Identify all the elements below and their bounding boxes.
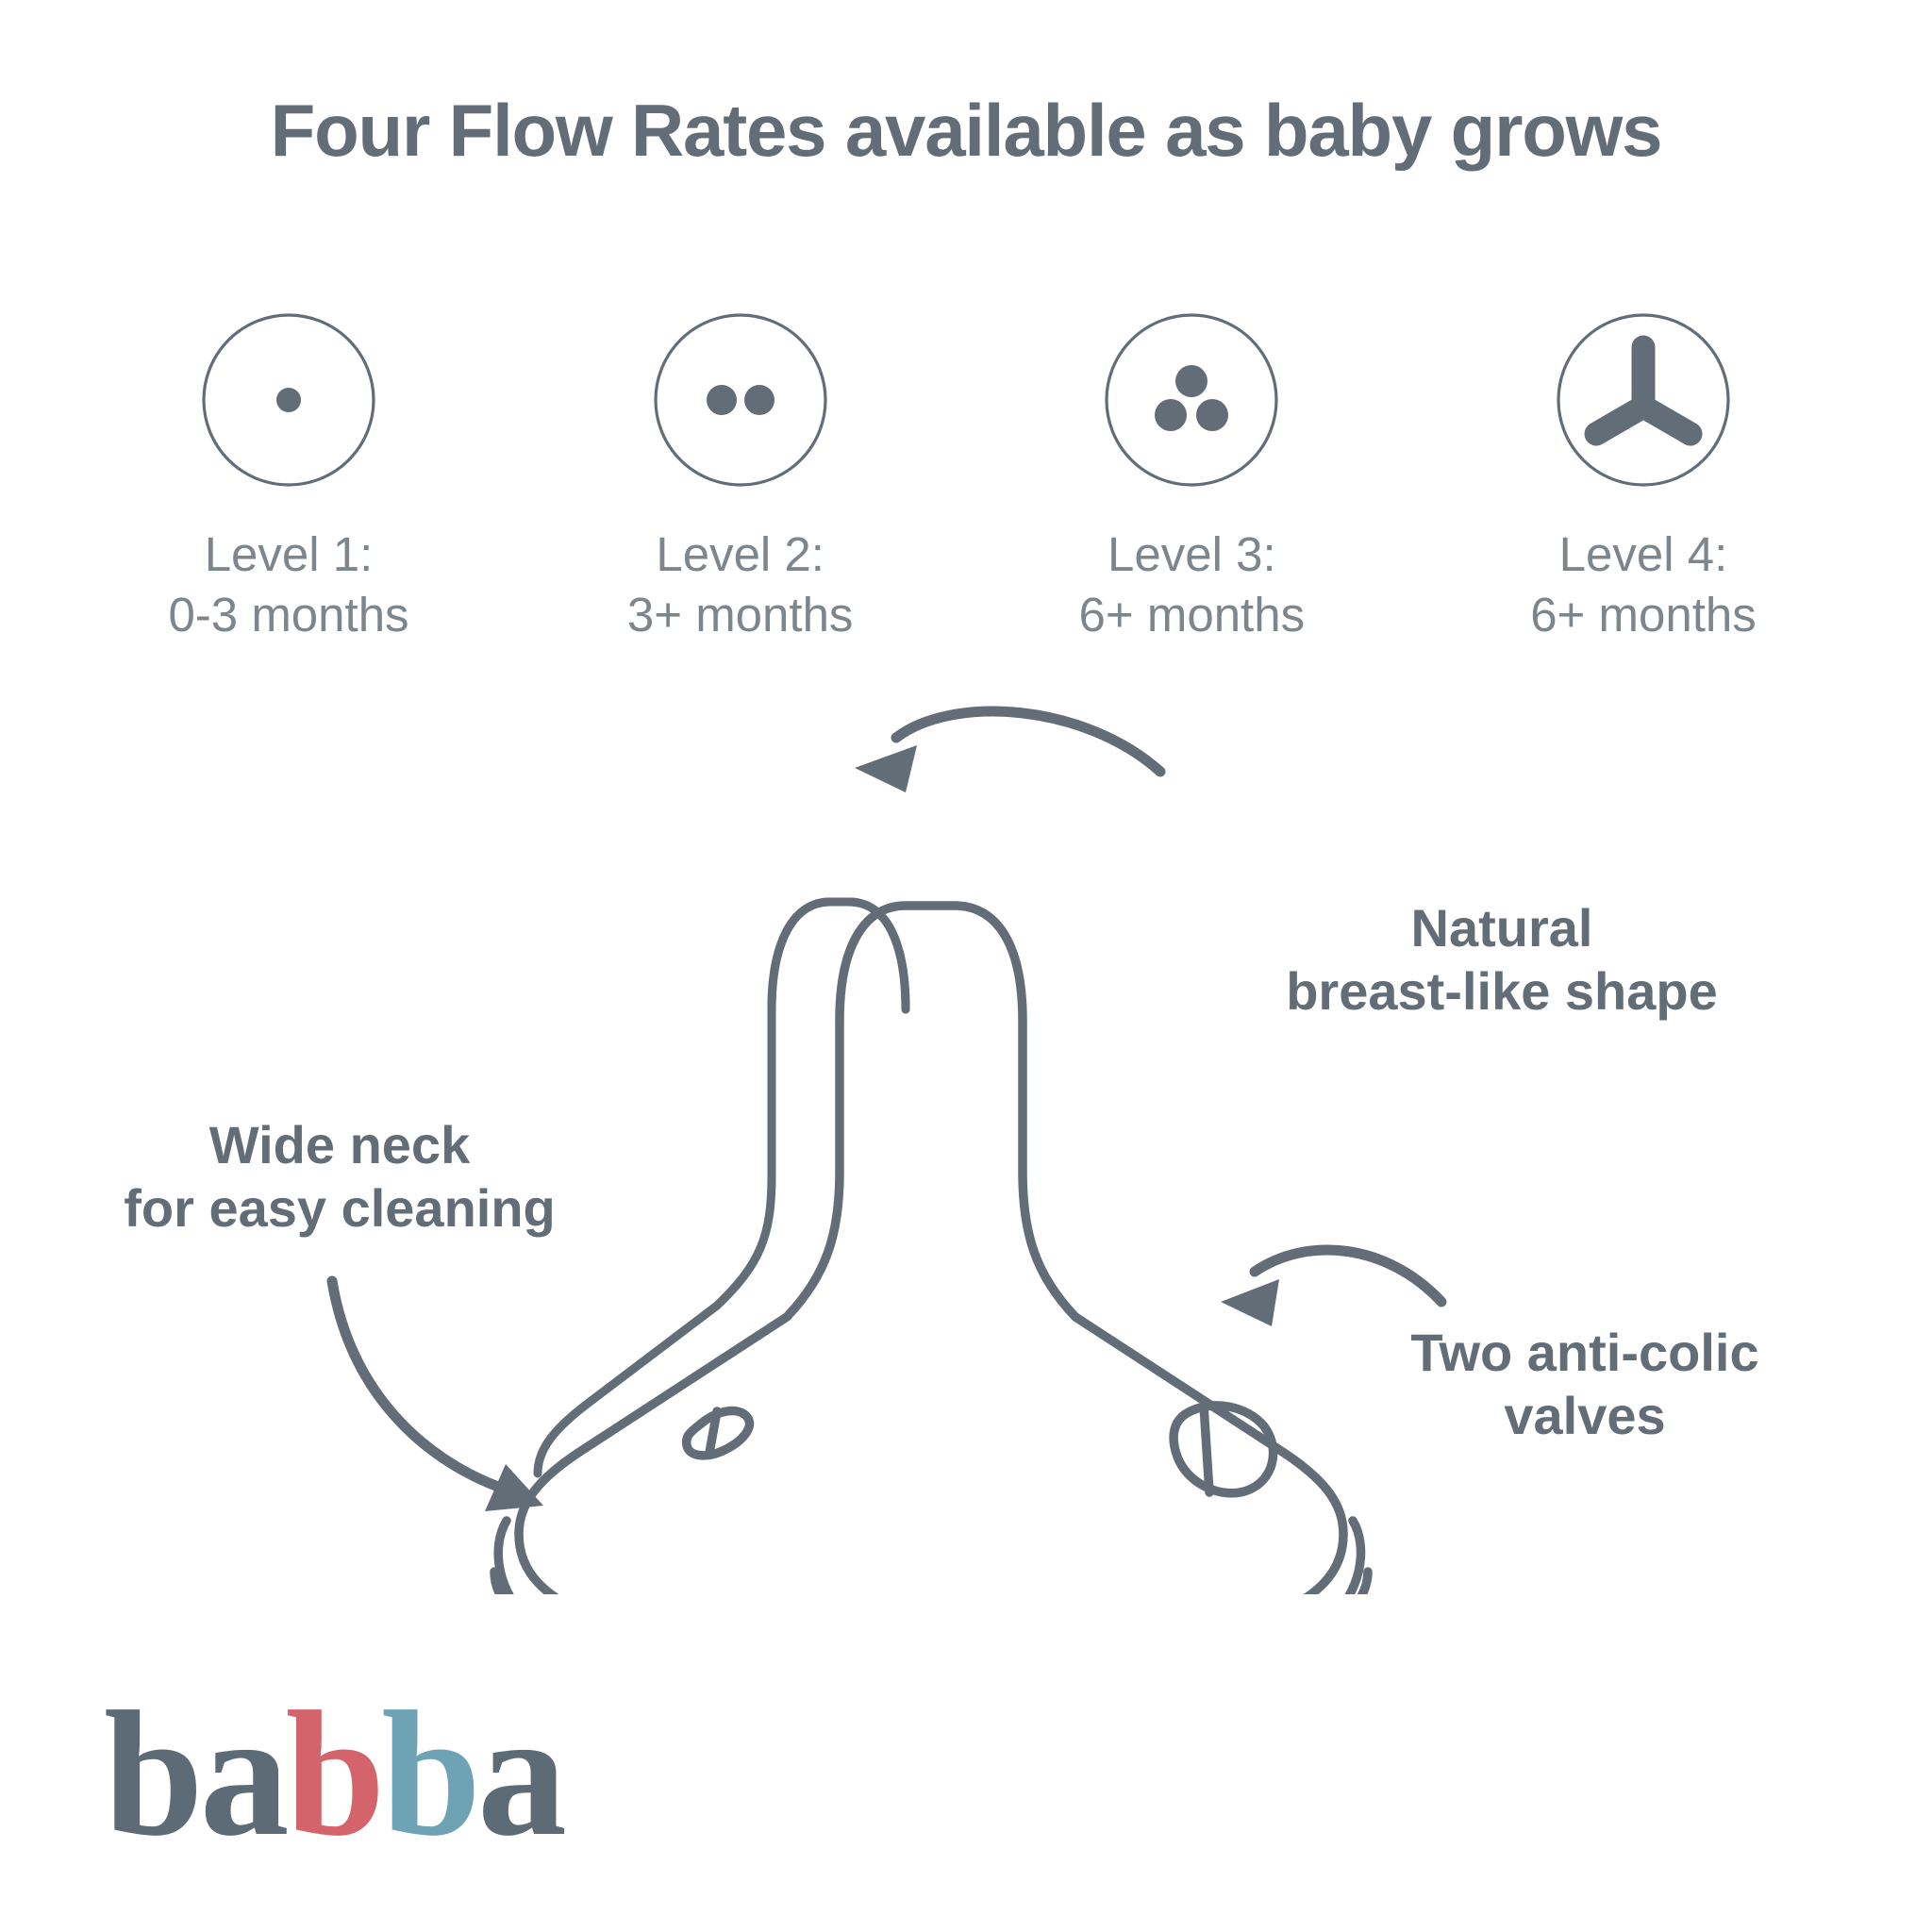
callout-natural-shape: Natural breast-like shape [1200,896,1804,1023]
arrow-natural-shape [855,711,1160,792]
logo-part-4: a [477,1675,563,1874]
flow-level-2-label: Level 2: 3+ months [627,525,854,645]
two-dots-icon [652,311,829,489]
flow-level-2: Level 2: 3+ months [542,311,939,645]
flow-level-3-label: Level 3: 6+ months [1079,525,1306,645]
flow-level-1-label: Level 1: 0-3 months [168,525,408,645]
anti-colic-valve-left [687,1411,750,1456]
logo-part-1: ba [104,1675,286,1874]
logo-part-3: b [381,1675,477,1874]
one-dot-icon [200,311,377,489]
flow-level-4-label: Level 4: 6+ months [1530,525,1757,645]
callout-wide-neck: Wide neck for easy cleaning [38,1113,641,1240]
anti-colic-valve-right [1174,1406,1274,1493]
arrow-anti-colic-valves [1221,1250,1441,1326]
logo-part-2: b [286,1675,382,1874]
page-title: Four Flow Rates available as baby grows [0,91,1932,170]
flow-level-1: Level 1: 0-3 months [91,311,487,645]
babba-logo: babba [104,1685,563,1864]
callout-anti-colic-valves: Two anti-colic valves [1321,1321,1849,1447]
flow-level-4: Level 4: 6+ months [1445,311,1841,645]
three-dots-icon [1103,311,1280,489]
arrow-wide-neck [332,1281,543,1511]
flow-level-row: Level 1: 0-3 months Level 2: 3+ months L… [91,311,1841,645]
flow-level-3: Level 3: 6+ months [993,311,1390,645]
y-cut-icon [1555,311,1732,489]
infographic-canvas: Four Flow Rates available as baby grows … [0,0,1932,1932]
